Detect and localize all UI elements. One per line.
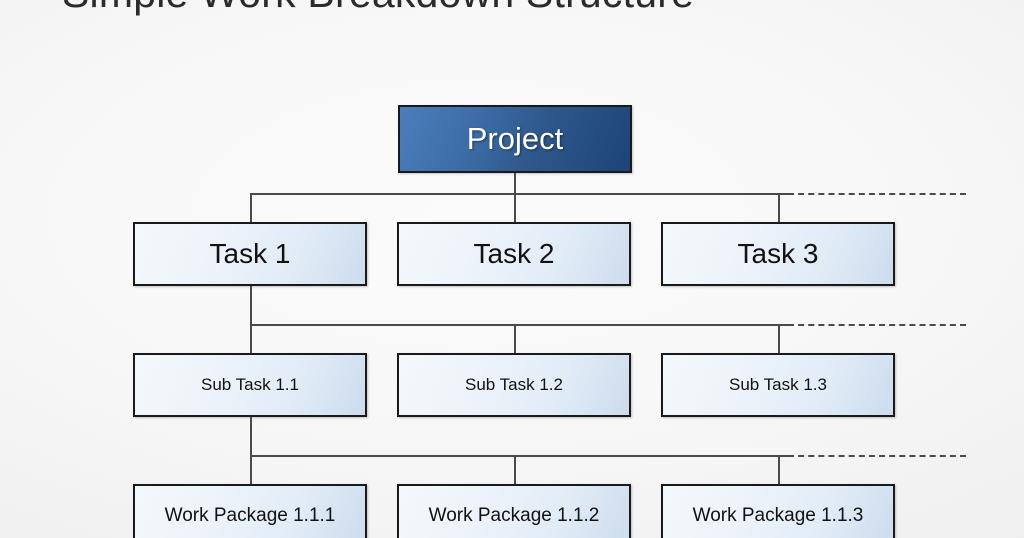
node-sub-task-1-2-label: Sub Task 1.2 — [465, 375, 563, 395]
node-sub-task-1-2[interactable]: Sub Task 1.2 — [397, 353, 631, 417]
page-title: Simple Work Breakdown Structure — [62, 0, 962, 17]
node-work-package-1-1-2[interactable]: Work Package 1.1.2 — [397, 484, 631, 538]
node-task-1[interactable]: Task 1 — [133, 222, 367, 286]
connector-workpackage-3-drop — [778, 455, 780, 484]
connector-task-bus-dashed-extension — [788, 193, 966, 195]
node-task-3-label: Task 3 — [738, 238, 819, 270]
node-task-1-label: Task 1 — [210, 238, 291, 270]
connector-task-3-drop — [778, 193, 780, 222]
node-project[interactable]: Project — [398, 105, 632, 173]
connector-sub-task-1-1-stem — [250, 417, 252, 455]
connector-subtask-bus-dashed-extension — [788, 324, 966, 326]
connector-workpackage-bus-dashed-extension — [788, 455, 966, 457]
connector-task-1-stem — [250, 286, 252, 324]
node-work-package-1-1-1-label: Work Package 1.1.1 — [165, 505, 336, 527]
node-sub-task-1-3[interactable]: Sub Task 1.3 — [661, 353, 895, 417]
connector-root-stem — [514, 173, 516, 193]
connector-subtask-1-drop — [250, 324, 252, 353]
node-task-3[interactable]: Task 3 — [661, 222, 895, 286]
node-task-2[interactable]: Task 2 — [397, 222, 631, 286]
connector-workpackage-1-drop — [250, 455, 252, 484]
node-sub-task-1-1[interactable]: Sub Task 1.1 — [133, 353, 367, 417]
slide-canvas: Simple Work Breakdown Structure Project … — [0, 0, 1024, 538]
connector-task-1-drop — [250, 193, 252, 222]
node-task-2-label: Task 2 — [474, 238, 555, 270]
node-work-package-1-1-3[interactable]: Work Package 1.1.3 — [661, 484, 895, 538]
connector-subtask-2-drop — [514, 324, 516, 353]
node-sub-task-1-3-label: Sub Task 1.3 — [729, 375, 827, 395]
connector-workpackage-bus — [250, 455, 788, 457]
connector-subtask-3-drop — [778, 324, 780, 353]
node-sub-task-1-1-label: Sub Task 1.1 — [201, 375, 299, 395]
node-work-package-1-1-2-label: Work Package 1.1.2 — [429, 505, 600, 527]
connector-task-bus — [250, 193, 788, 195]
node-work-package-1-1-1[interactable]: Work Package 1.1.1 — [133, 484, 367, 538]
node-work-package-1-1-3-label: Work Package 1.1.3 — [693, 505, 864, 527]
connector-workpackage-2-drop — [514, 455, 516, 484]
connector-task-2-drop — [514, 193, 516, 222]
node-project-label: Project — [467, 121, 563, 157]
connector-subtask-bus — [250, 324, 788, 326]
